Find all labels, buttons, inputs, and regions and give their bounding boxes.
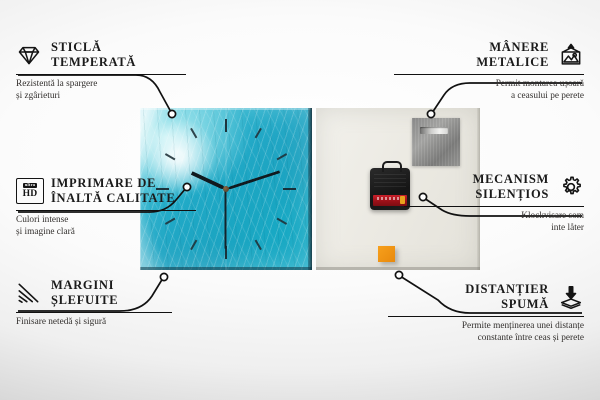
polished-edges-icon	[16, 280, 42, 306]
feature-subtitle: Rezistentă la spargere și zgârieturi	[16, 78, 186, 102]
feature-margini-slefuite: MARGINI ȘLEFUITE Finisare netedă și sigu…	[16, 278, 172, 328]
feature-subtitle: Permite menținerea unei distanțe constan…	[388, 320, 584, 344]
ultra-hd-icon: ultra HD	[16, 178, 42, 204]
feature-title: DISTANȚIER SPUMĂ	[465, 282, 549, 312]
mechanism-hanging-loop	[382, 161, 402, 172]
feature-subtitle: Culori intense și imagine clară	[16, 214, 196, 238]
feature-manere-metalice: MÂNERE METALICE Permit montarea ușoară a…	[394, 40, 584, 102]
arrow-onto-layer-icon	[558, 284, 584, 310]
feature-imprimare-inalta-calitate: ultra HD IMPRIMARE DE ÎNALTĂ CALITATE Cu…	[16, 176, 196, 238]
feature-title: IMPRIMARE DE ÎNALTĂ CALITATE	[51, 176, 175, 206]
feature-title: MÂNERE METALICE	[476, 40, 549, 70]
feature-title: MARGINI ȘLEFUITE	[51, 278, 118, 308]
picture-frame-hanging-icon	[558, 42, 584, 68]
clock-center-cap	[223, 186, 229, 192]
battery	[373, 195, 407, 206]
hanger-keyhole-slot	[420, 127, 448, 134]
battery-label	[377, 197, 401, 200]
feature-distantier-spuma: DISTANȚIER SPUMĂ Permite menținerea unei…	[388, 282, 584, 344]
feature-sticla-temperata: STICLĂ TEMPERATĂ Rezistentă la spargere …	[16, 40, 186, 102]
feature-title: MECANISM SILENȚIOS	[473, 172, 549, 202]
metal-hanger-plate	[412, 118, 460, 166]
feature-rule	[404, 206, 584, 208]
feature-rule	[388, 316, 584, 318]
diamond-icon	[16, 42, 42, 68]
feature-mecanism-silentios: MECANISM SILENȚIOS Klockvisare som inte …	[404, 172, 584, 234]
feature-rule	[16, 210, 196, 212]
feature-subtitle: Permit montarea ușoară a ceasului pe per…	[394, 78, 584, 102]
infographic-stage: STICLĂ TEMPERATĂ Rezistentă la spargere …	[0, 0, 600, 400]
feature-subtitle: Klockvisare som inte låter	[404, 210, 584, 234]
back-bottom-edge	[316, 267, 480, 270]
hanger-grain	[412, 118, 460, 166]
feature-subtitle: Finisare netedă și sigură	[16, 316, 172, 328]
feature-title: STICLĂ TEMPERATĂ	[51, 40, 136, 70]
gear-icon	[558, 174, 584, 200]
foam-spacer	[378, 246, 395, 262]
feature-rule	[394, 74, 584, 76]
feature-rule	[16, 74, 186, 76]
mechanism-texture	[374, 174, 406, 188]
feature-rule	[16, 312, 172, 314]
